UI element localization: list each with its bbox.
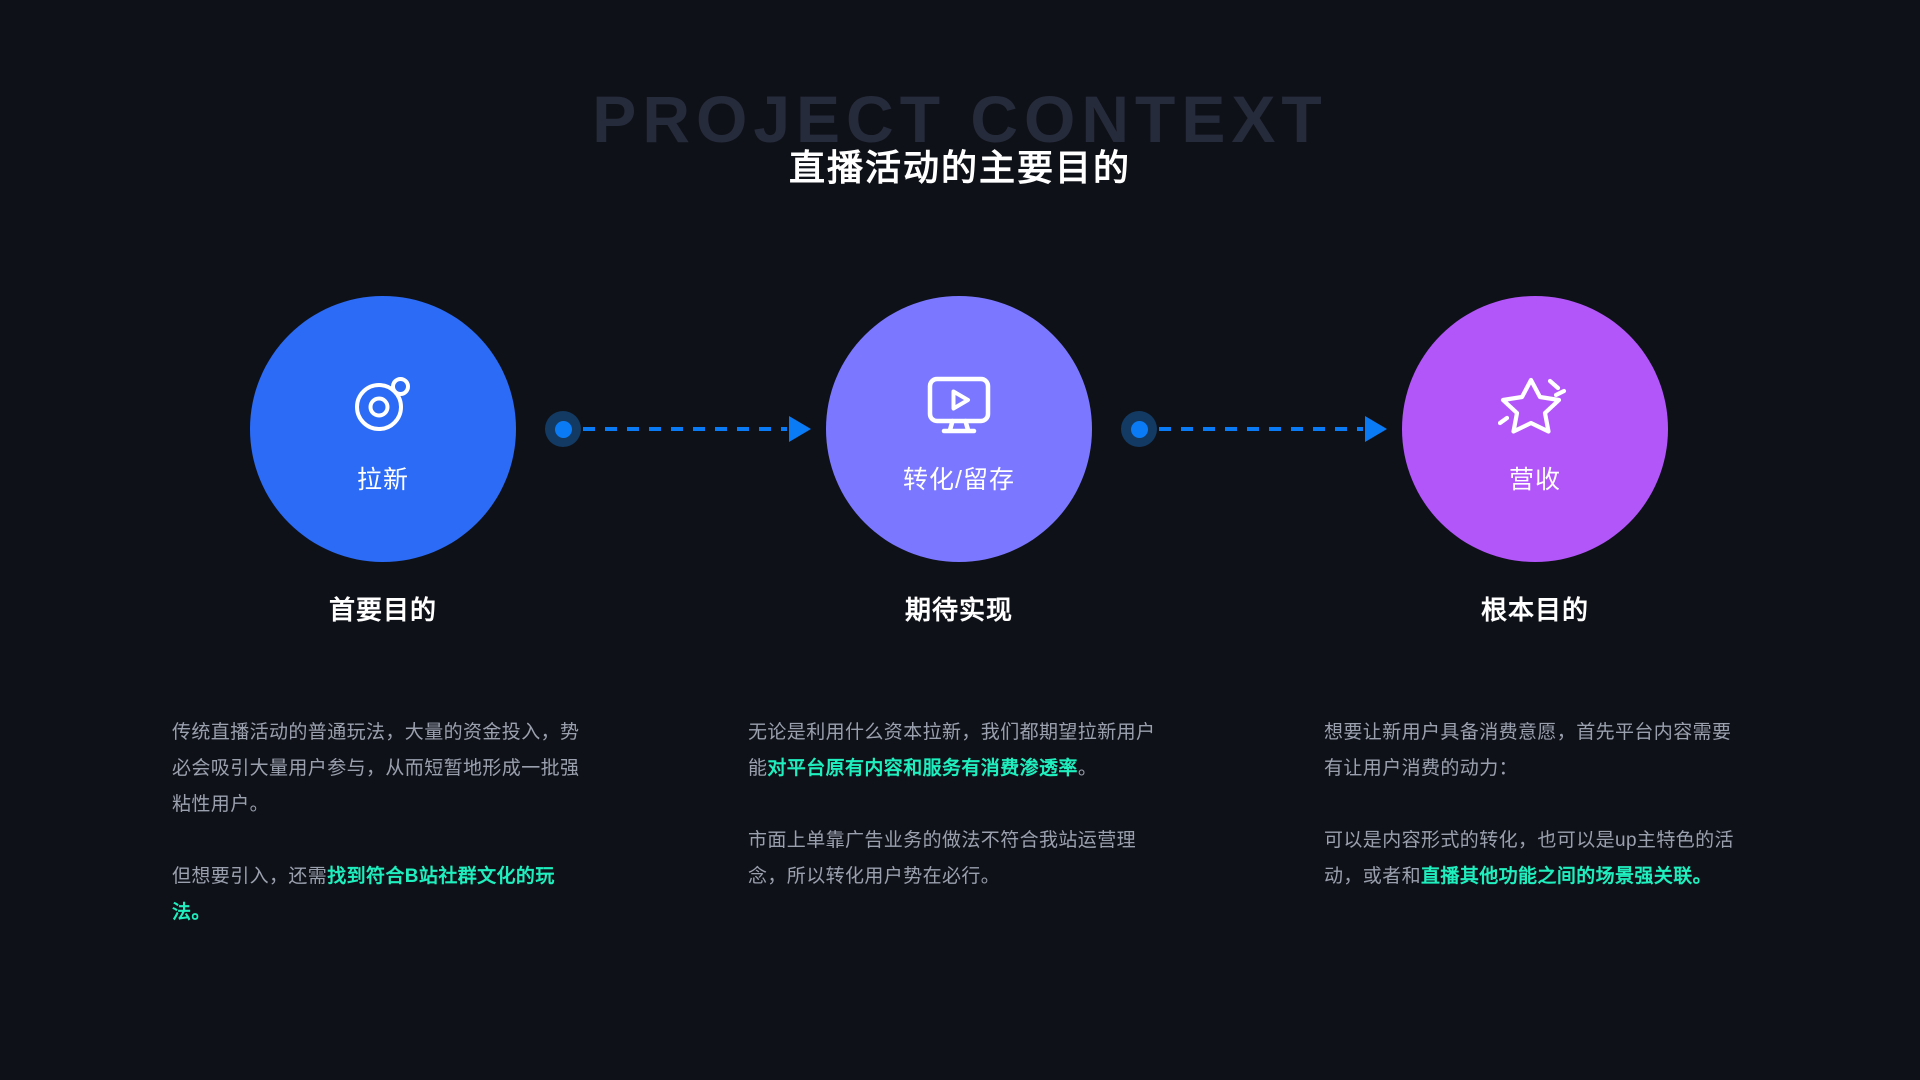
slide-root: PROJECT CONTEXT 直播活动的主要目的 拉新 <box>0 0 1920 1080</box>
arrow-right-icon <box>1365 416 1387 442</box>
body-paragraph: 无论是利用什么资本拉新，我们都期望拉新用户能对平台原有内容和服务有消费渗透率。 <box>748 715 1163 787</box>
subheading-fundamental-goal: 根本目的 <box>1402 595 1668 626</box>
flow-node-acquisition[interactable]: 拉新 <box>250 296 516 562</box>
highlighted-text: 直播其他功能之间的场景强关联。 <box>1421 866 1712 887</box>
body-column-1: 传统直播活动的普通玩法，大量的资金投入，势必会吸引大量用户参与，从而短暂地形成一… <box>172 715 587 931</box>
star-sparkle-icon <box>1498 366 1572 440</box>
watermark-heading: PROJECT CONTEXT <box>0 86 1920 152</box>
subheading-row: 首要目的 期待实现 根本目的 <box>0 595 1920 645</box>
page-title: 直播活动的主要目的 <box>0 150 1920 186</box>
body-column-3: 想要让新用户具备消费意愿，首先平台内容需要有让用户消费的动力：可以是内容形式的转… <box>1324 715 1739 895</box>
flow-connector-2 <box>1121 409 1387 449</box>
body-text: 。 <box>1078 758 1097 779</box>
body-columns: 传统直播活动的普通玩法，大量的资金投入，势必会吸引大量用户参与，从而短暂地形成一… <box>0 715 1920 965</box>
connector-dashed-line <box>583 427 787 431</box>
connector-dot-icon <box>545 411 581 447</box>
body-paragraph: 可以是内容形式的转化，也可以是up主特色的活动，或者和直播其他功能之间的场景强关… <box>1324 823 1739 895</box>
flow-connector-1 <box>545 409 811 449</box>
body-paragraph: 想要让新用户具备消费意愿，首先平台内容需要有让用户消费的动力： <box>1324 715 1739 787</box>
monitor-play-icon <box>922 366 996 440</box>
slide-header: PROJECT CONTEXT 直播活动的主要目的 <box>0 0 1920 230</box>
flow-node-label: 营收 <box>1509 468 1561 493</box>
body-paragraph: 但想要引入，还需找到符合B站社群文化的玩法。 <box>172 859 587 931</box>
flow-node-conversion-retention[interactable]: 转化/留存 <box>826 296 1092 562</box>
body-paragraph: 市面上单靠广告业务的做法不符合我站运营理念，所以转化用户势在必行。 <box>748 823 1163 895</box>
connector-dot-icon <box>1121 411 1157 447</box>
subheading-primary-goal: 首要目的 <box>250 595 516 626</box>
body-text: 市面上单靠广告业务的做法不符合我站运营理念，所以转化用户势在必行。 <box>748 830 1136 887</box>
body-column-2: 无论是利用什么资本拉新，我们都期望拉新用户能对平台原有内容和服务有消费渗透率。市… <box>748 715 1163 895</box>
flow-node-revenue[interactable]: 营收 <box>1402 296 1668 562</box>
arrow-right-icon <box>789 416 811 442</box>
target-radar-icon <box>346 366 420 440</box>
subheading-expected-outcome: 期待实现 <box>826 595 1092 626</box>
highlighted-text: 对平台原有内容和服务有消费渗透率 <box>767 758 1077 779</box>
body-text: 想要让新用户具备消费意愿，首先平台内容需要有让用户消费的动力： <box>1324 722 1731 779</box>
connector-dashed-line <box>1159 427 1363 431</box>
body-text: 传统直播活动的普通玩法，大量的资金投入，势必会吸引大量用户参与，从而短暂地形成一… <box>172 722 579 815</box>
body-paragraph: 传统直播活动的普通玩法，大量的资金投入，势必会吸引大量用户参与，从而短暂地形成一… <box>172 715 587 823</box>
flow-node-label: 转化/留存 <box>903 468 1015 493</box>
flow-node-label: 拉新 <box>357 468 409 493</box>
flow-diagram: 拉新 转化/留存 <box>0 296 1920 566</box>
body-text: 但想要引入，还需 <box>172 866 327 887</box>
